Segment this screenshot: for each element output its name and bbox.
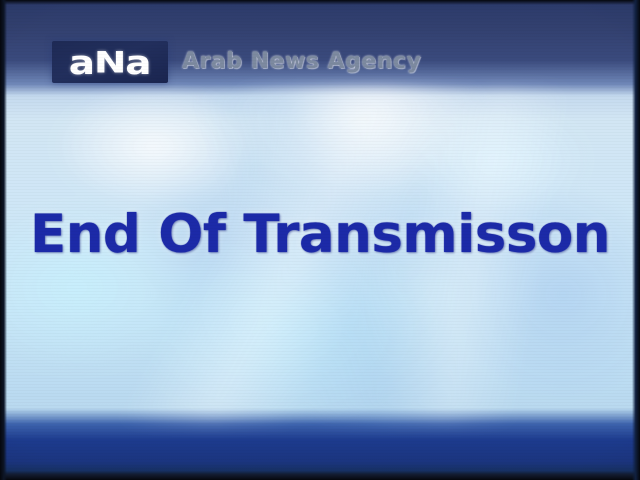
channel-logo-wordmark: aNa xyxy=(69,46,151,79)
channel-tagline: Arab News Agency xyxy=(182,51,421,73)
channel-identity-lockup: aNa Arab News Agency xyxy=(52,41,421,83)
logo-letter-n: N xyxy=(94,47,125,76)
end-of-transmission-text: End Of Transmisson xyxy=(30,208,610,261)
broadcast-screen: aNa Arab News Agency End Of Transmisson xyxy=(0,0,640,480)
logo-letter-a-first: a xyxy=(69,43,94,82)
logo-letter-a-second: a xyxy=(126,43,151,82)
channel-logo-box: aNa xyxy=(52,41,168,83)
end-of-transmission-banner: End Of Transmisson xyxy=(0,208,640,261)
